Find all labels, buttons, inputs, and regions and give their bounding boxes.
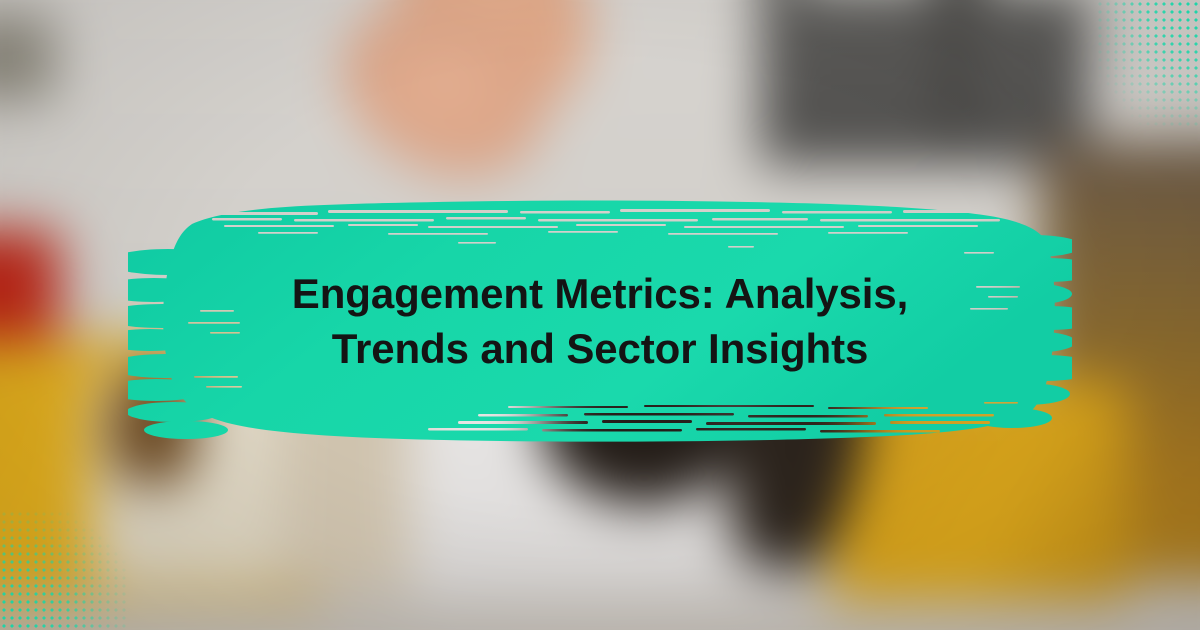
title-block: Engagement Metrics: Analysis, Trends and… [128,190,1072,448]
brush-stroke-banner: Engagement Metrics: Analysis, Trends and… [128,190,1072,448]
social-share-banner: Engagement Metrics: Analysis, Trends and… [0,0,1200,630]
page-title: Engagement Metrics: Analysis, Trends and… [220,262,980,377]
